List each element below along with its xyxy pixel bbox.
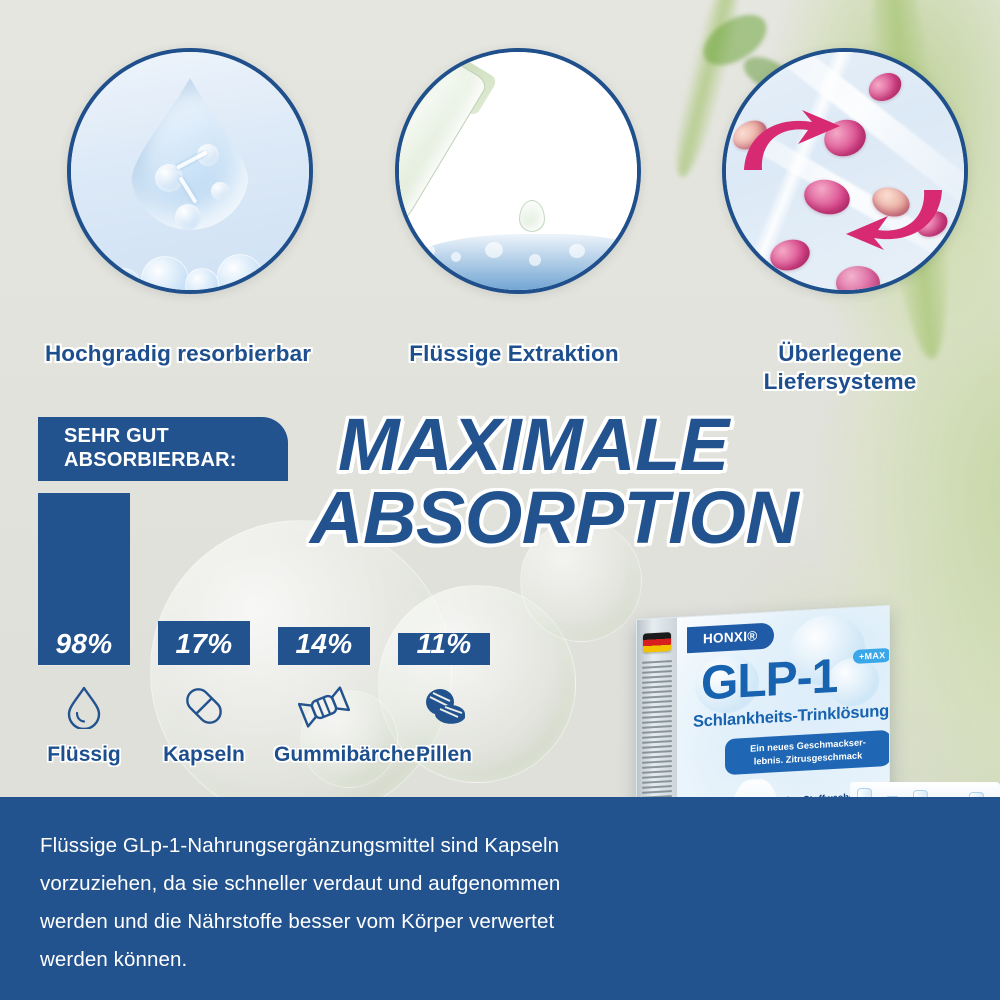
chart-category-label-3: Pillen (398, 743, 490, 767)
falling-drop-icon (519, 200, 545, 232)
feature-image-absorption (67, 48, 313, 294)
chart-icon-wrap-2 (278, 685, 370, 729)
capsule-icon (181, 683, 227, 729)
molecule-sphere-4 (211, 182, 229, 200)
flow-arrow-up-icon (736, 108, 846, 178)
german-flag-icon (643, 632, 671, 653)
foam-bubbles-group (67, 234, 313, 294)
feature-circles (0, 40, 1000, 300)
footer-panel: Flüssige GLp-1-Nahrungsergänzungsmittel … (0, 797, 1000, 1000)
candy-icon (298, 685, 350, 729)
chart-bar-value-1: 17% (158, 628, 250, 660)
feature-image-delivery (722, 48, 968, 294)
chart-column-3: 11% (398, 633, 490, 665)
chart-category-label-0: Flüssig (38, 743, 130, 767)
molecule-sphere-3 (175, 204, 201, 230)
chart-bar-value-0: 98% (38, 628, 130, 660)
chart-bar-3: 11% (398, 633, 490, 665)
chart-bar-1: 17% (158, 621, 250, 665)
chart-category-label-1: Kapseln (158, 743, 250, 767)
chart-category-label-2: Gummibärchen (274, 743, 374, 767)
absorb-banner-line2: ABSORBIERBAR: (64, 449, 237, 473)
flow-arrow-down-icon (838, 180, 950, 254)
product-max-badge: +MAX (853, 648, 889, 664)
pills-icon (420, 687, 468, 729)
chart-bar-value-3: 11% (398, 628, 490, 660)
chart-column-1: 17% (158, 621, 250, 665)
absorption-bar-chart: 98% Flüssig 17% Kapseln (38, 497, 508, 787)
chart-column-2: 14% (278, 627, 370, 665)
chart-bar-0: 98% (38, 493, 130, 665)
absorb-banner-line1: SEHR GUT (64, 425, 237, 449)
feature-caption-delivery-line2: Liefersysteme (340, 368, 1000, 397)
footer-paragraph: Flüssige GLp-1-Nahrungsergänzungsmittel … (40, 827, 600, 979)
product-tagline: Ein neues Geschmackser- lebnis. Zitrusge… (725, 730, 889, 775)
product-brand: HONXI® (687, 622, 774, 653)
absorb-banner: SEHR GUT ABSORBIERBAR: (38, 417, 288, 481)
chart-icon-wrap-0 (38, 685, 130, 729)
feature-image-extraction (395, 48, 641, 294)
absorb-banner-text: SEHR GUT ABSORBIERBAR: (38, 425, 237, 472)
chart-column-0: 98% (38, 493, 130, 665)
chart-icon-wrap-1 (158, 683, 250, 729)
chart-bar-value-2: 14% (278, 628, 370, 660)
headline-line1: MAXIMALE (300, 408, 1000, 481)
chart-icon-wrap-3 (398, 687, 490, 729)
blood-cell-8 (836, 266, 880, 294)
feature-caption-delivery-line1: Überlegene (340, 340, 1000, 369)
product-title: GLP-1 (701, 653, 837, 709)
droplet-icon (66, 685, 102, 729)
infographic-root: Hochgradig resorbierbar Flüssige Extrakt… (0, 0, 1000, 1000)
chart-bar-2: 14% (278, 627, 370, 665)
